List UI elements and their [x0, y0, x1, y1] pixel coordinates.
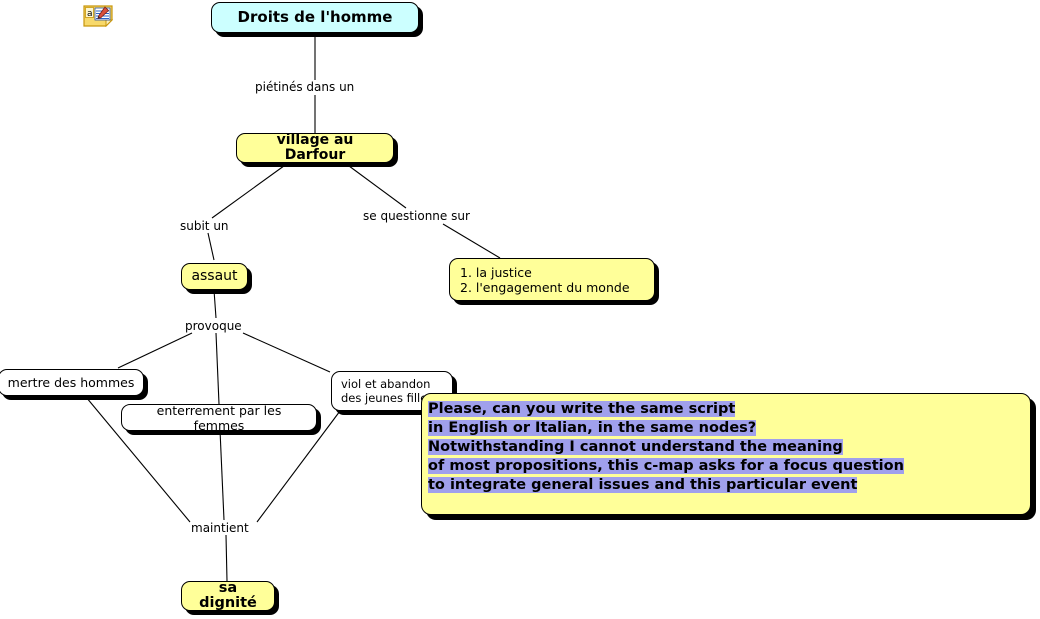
link-label-provoque: provoque — [185, 319, 242, 333]
note-line-2-text: in English or Italian, in the same nodes… — [428, 420, 756, 436]
node-village-au-darfour[interactable]: village au Darfour — [236, 133, 394, 163]
note-line-3: Notwithstanding I cannot understand the … — [428, 438, 1022, 457]
note-line-1: Please, can you write the same script — [428, 400, 1022, 419]
node-label: assaut — [191, 269, 237, 284]
note-panel[interactable]: Please, can you write the same script in… — [421, 393, 1031, 515]
note-line-4: of most propositions, this c-map asks fo… — [428, 457, 1022, 476]
note-annotation-icon-glyph: a — [83, 5, 113, 27]
node-label: sa dignité — [190, 581, 266, 611]
node-label: village au Darfour — [245, 133, 385, 163]
link-label-maintient: maintient — [191, 521, 249, 535]
link-label-subit-un: subit un — [180, 219, 229, 233]
node-label-line-1: 1. la justice — [460, 265, 630, 280]
note-annotation-icon[interactable]: a — [83, 5, 113, 27]
node-label: Droits de l'homme — [238, 10, 393, 25]
svg-text:a: a — [87, 9, 93, 19]
node-label-line-2: 2. l'engagement du monde — [460, 280, 630, 295]
note-line-4-text: of most propositions, this c-map asks fo… — [428, 458, 904, 474]
node-label-group: viol et abandon des jeunes filles — [341, 377, 433, 405]
node-label-group: 1. la justice 2. l'engagement du monde — [460, 265, 630, 295]
node-label: enterrement par les femmes — [130, 403, 308, 433]
link-label-se-questionne-sur: se questionne sur — [363, 209, 470, 223]
note-line-5-text: to integrate general issues and this par… — [428, 477, 857, 493]
link-label-pietines-dans-un: piétinés dans un — [255, 80, 354, 94]
note-line-1-text: Please, can you write the same script — [428, 401, 735, 417]
node-assaut[interactable]: assaut — [181, 263, 248, 290]
connector-lines — [0, 0, 1040, 619]
node-label-line-1: viol et abandon — [341, 377, 433, 391]
note-line-2: in English or Italian, in the same nodes… — [428, 419, 1022, 438]
node-label-line-2: des jeunes filles — [341, 391, 433, 405]
node-label: mertre des hommes — [8, 375, 135, 390]
concept-map-canvas[interactable]: a Droits de l'homme village au Darfour a… — [0, 0, 1040, 619]
note-line-5: to integrate general issues and this par… — [428, 476, 1022, 495]
node-questions-list[interactable]: 1. la justice 2. l'engagement du monde — [449, 258, 655, 301]
node-mertre-des-hommes[interactable]: mertre des hommes — [0, 369, 144, 396]
note-line-3-text: Notwithstanding I cannot understand the … — [428, 439, 843, 455]
node-droits-de-lhomme[interactable]: Droits de l'homme — [211, 2, 419, 33]
node-enterrement-par-les-femmes[interactable]: enterrement par les femmes — [121, 404, 317, 431]
node-sa-dignite[interactable]: sa dignité — [181, 581, 275, 611]
